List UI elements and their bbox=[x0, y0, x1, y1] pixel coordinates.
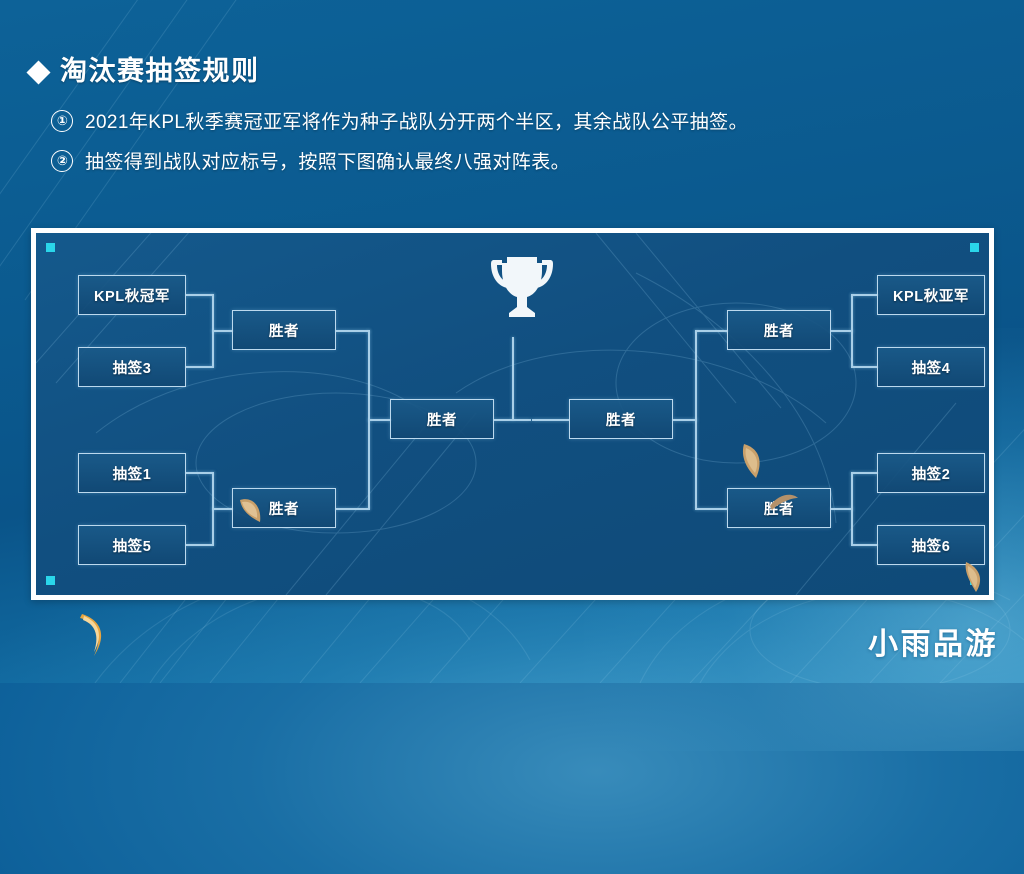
connector-right-top-vertical bbox=[851, 294, 853, 367]
connector-left-top-1 bbox=[186, 294, 214, 296]
bracket-node-right-bottom-winner[interactable]: 胜者 bbox=[727, 488, 831, 528]
bracket-node-left-bottom-2[interactable]: 抽签5 bbox=[78, 525, 186, 565]
connector-left-bottom-to-winner bbox=[212, 508, 234, 510]
bracket-node-left-bottom-1[interactable]: 抽签1 bbox=[78, 453, 186, 493]
connector-final-right bbox=[532, 419, 569, 421]
connector-right-semi-vertical bbox=[695, 330, 697, 509]
bracket-panel: KPL秋冠军 抽签3 胜者 抽签1 抽签5 胜者 胜者 胜者 胜者 bbox=[31, 228, 994, 600]
bracket-node-right-top-winner[interactable]: 胜者 bbox=[727, 310, 831, 350]
rule-item-2: ② 抽签得到战队对应标号，按照下图确认最终八强对阵表。 bbox=[51, 147, 1024, 174]
bracket-node-left-top-winner[interactable]: 胜者 bbox=[232, 310, 336, 350]
connector-final-trophy-stem bbox=[512, 337, 514, 420]
bracket-node-right-semifinal[interactable]: 胜者 bbox=[569, 399, 673, 439]
diamond-icon bbox=[26, 60, 50, 84]
connector-right-semi-2 bbox=[695, 508, 729, 510]
connector-left-semi-to-node bbox=[368, 419, 392, 421]
connector-right-semi-1 bbox=[695, 330, 729, 332]
bracket-node-left-bottom-winner[interactable]: 胜者 bbox=[232, 488, 336, 528]
connector-left-semi-1 bbox=[336, 330, 370, 332]
connector-right-top-1 bbox=[851, 294, 879, 296]
bracket-node-left-top-2[interactable]: 抽签3 bbox=[78, 347, 186, 387]
page-title: 淘汰赛抽签规则 bbox=[60, 58, 260, 85]
bracket-node-right-top-2[interactable]: 抽签4 bbox=[877, 347, 985, 387]
connector-right-top-2 bbox=[851, 366, 879, 368]
rules-list: ① 2021年KPL秋季赛冠亚军将作为种子战队分开两个半区，其余战队公平抽签。 … bbox=[30, 107, 1024, 174]
bracket-node-left-top-1[interactable]: KPL秋冠军 bbox=[78, 275, 186, 315]
rule-text-2: 抽签得到战队对应标号，按照下图确认最终八强对阵表。 bbox=[85, 147, 570, 174]
connector-right-bottom-vertical bbox=[851, 472, 853, 545]
connector-left-semi-2 bbox=[336, 508, 370, 510]
bracket-layer: KPL秋冠军 抽签3 胜者 抽签1 抽签5 胜者 胜者 胜者 胜者 bbox=[36, 233, 989, 595]
connector-left-bottom-2 bbox=[186, 544, 214, 546]
bracket-node-right-bottom-1[interactable]: 抽签2 bbox=[877, 453, 985, 493]
rule-number-icon-1: ① bbox=[51, 110, 73, 132]
trophy-icon bbox=[491, 255, 553, 335]
title-row: 淘汰赛抽签规则 bbox=[30, 58, 1024, 85]
bracket-node-right-bottom-2[interactable]: 抽签6 bbox=[877, 525, 985, 565]
connector-right-semi-to-node bbox=[673, 419, 697, 421]
connector-right-bottom-2 bbox=[851, 544, 879, 546]
bracket-node-right-top-1[interactable]: KPL秋亚军 bbox=[877, 275, 985, 315]
rule-text-1: 2021年KPL秋季赛冠亚军将作为种子战队分开两个半区，其余战队公平抽签。 bbox=[85, 107, 748, 134]
connector-right-top-to-winner bbox=[831, 330, 853, 332]
connector-left-bottom-1 bbox=[186, 472, 214, 474]
rule-number-icon-2: ② bbox=[51, 150, 73, 172]
connector-right-bottom-1 bbox=[851, 472, 879, 474]
bracket-node-left-semifinal[interactable]: 胜者 bbox=[390, 399, 494, 439]
rule-item-1: ① 2021年KPL秋季赛冠亚军将作为种子战队分开两个半区，其余战队公平抽签。 bbox=[51, 107, 1024, 134]
header-block: 淘汰赛抽签规则 ① 2021年KPL秋季赛冠亚军将作为种子战队分开两个半区，其余… bbox=[0, 0, 1024, 174]
watermark-text: 小雨品游 bbox=[868, 619, 998, 663]
connector-left-top-2 bbox=[186, 366, 214, 368]
connector-right-bottom-to-winner bbox=[831, 508, 853, 510]
connector-left-top-to-winner bbox=[212, 330, 234, 332]
